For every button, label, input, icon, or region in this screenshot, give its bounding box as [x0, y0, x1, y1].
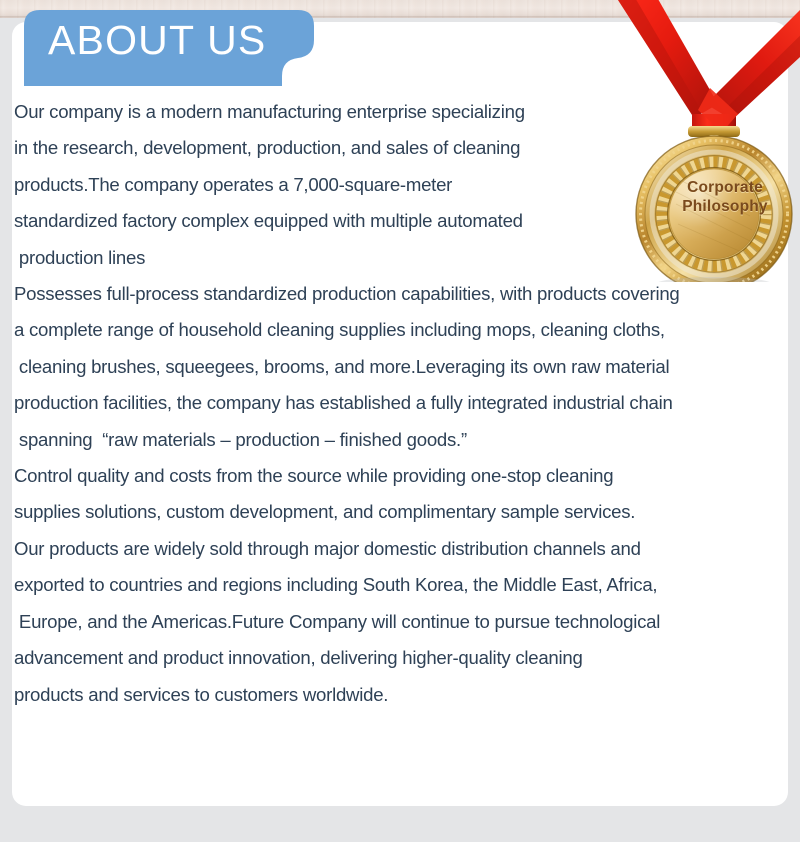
page-title: ABOUT US [48, 16, 266, 64]
body-line: spanning “raw materials – production – f… [14, 422, 782, 458]
about-us-body-text: Our company is a modern manufacturing en… [14, 94, 782, 713]
body-line: standardized factory complex equipped wi… [14, 203, 782, 239]
body-line: production lines [14, 240, 782, 276]
body-line: cleaning brushes, squeegees, brooms, and… [14, 349, 782, 385]
body-line: Our company is a modern manufacturing en… [14, 94, 782, 130]
about-us-banner: ABOUT US Our company is a modern manufac… [0, 0, 800, 842]
body-line: in the research, development, production… [14, 130, 782, 166]
body-line: products.The company operates a 7,000-sq… [14, 167, 782, 203]
body-line: Europe, and the Americas.Future Company … [14, 604, 782, 640]
body-line: products and services to customers world… [14, 677, 782, 713]
body-line: Possesses full-process standardized prod… [14, 276, 782, 312]
body-line: advancement and product innovation, deli… [14, 640, 782, 676]
body-line: Control quality and costs from the sourc… [14, 458, 782, 494]
body-line: a complete range of household cleaning s… [14, 312, 782, 348]
body-line: production facilities, the company has e… [14, 385, 782, 421]
body-line: Our products are widely sold through maj… [14, 531, 782, 567]
body-line: supplies solutions, custom development, … [14, 494, 782, 530]
body-line: exported to countries and regions includ… [14, 567, 782, 603]
